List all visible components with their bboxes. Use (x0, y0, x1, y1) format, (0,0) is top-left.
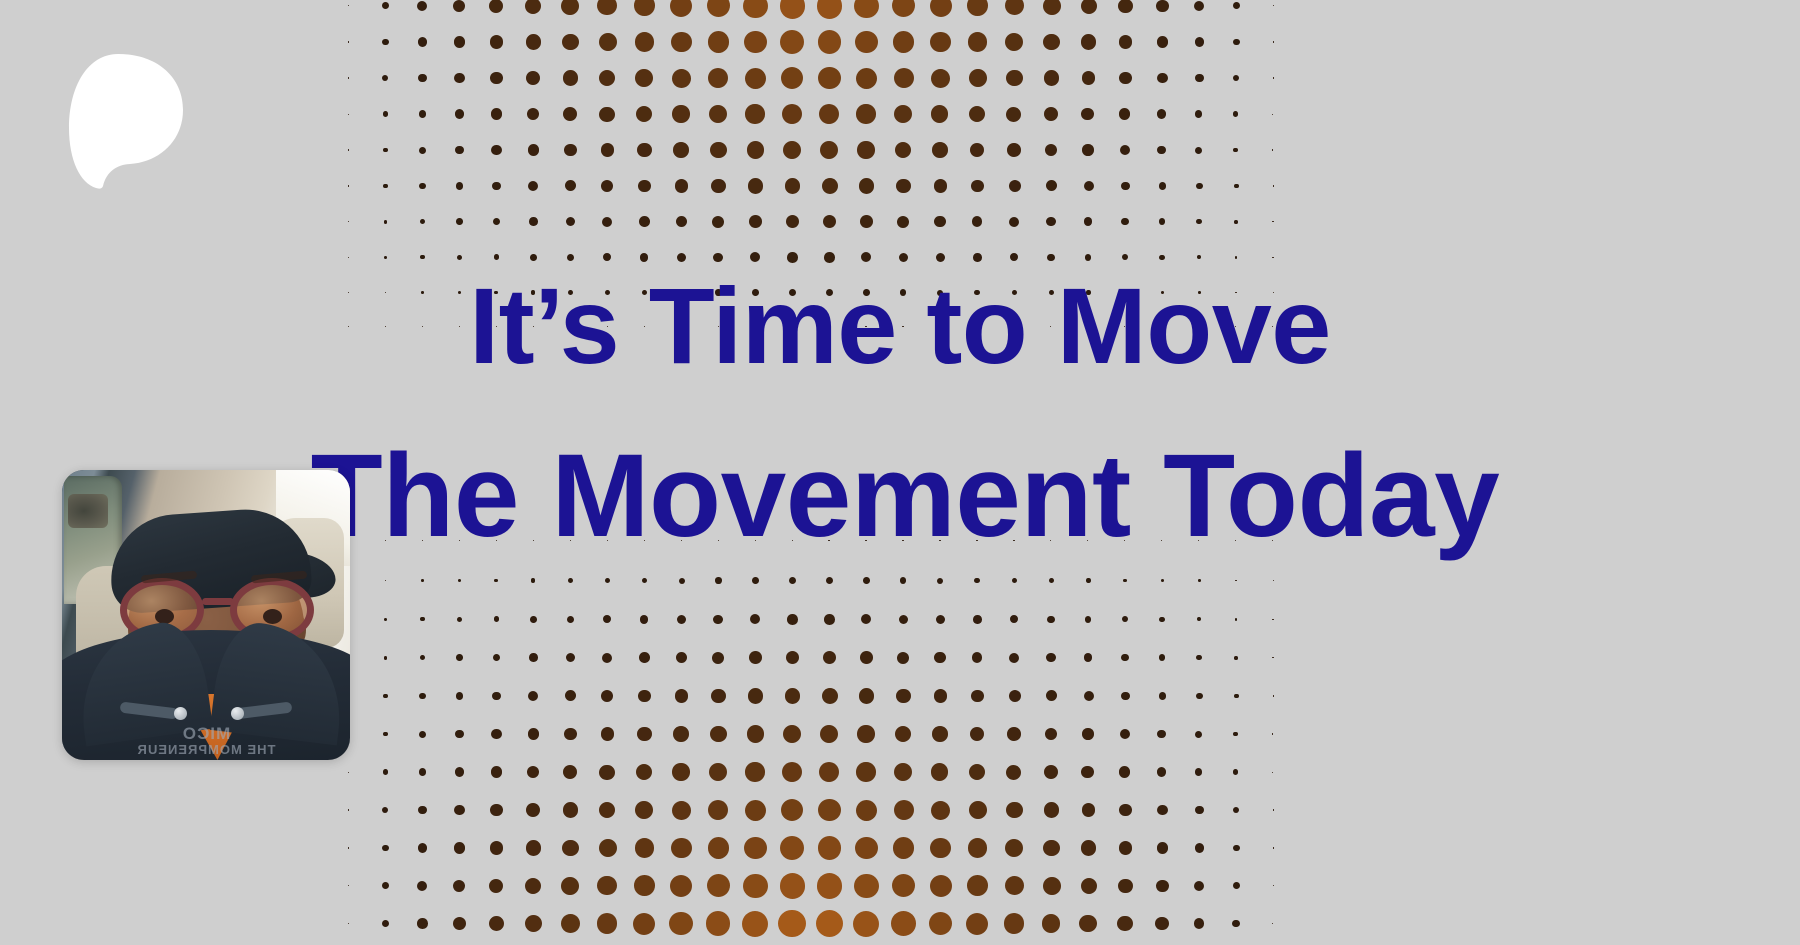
hoodie-brand-text: MICO (62, 724, 350, 743)
halftone-row (330, 141, 1280, 178)
halftone-row (330, 762, 1280, 799)
halftone-row (330, 725, 1280, 762)
halftone-row (330, 104, 1280, 141)
halftone-row (330, 836, 1280, 873)
halftone-row (330, 577, 1280, 614)
drawstring-aglet-right (231, 707, 244, 720)
halftone-row (330, 0, 1280, 30)
halftone-row (330, 799, 1280, 836)
headline-line-1: It’s Time to Move (0, 268, 1800, 385)
hoodie-tagline-text: THE MOMPRENEUR (62, 743, 350, 758)
halftone-row (330, 873, 1280, 910)
presenter-webcam-thumbnail[interactable]: MICO THE MOMPRENEUR (62, 470, 350, 760)
pupil-right (263, 609, 282, 624)
halftone-row (330, 178, 1280, 215)
webcam-scene: MICO THE MOMPRENEUR (62, 470, 350, 760)
halftone-dot-gradient-top (330, 0, 1280, 302)
halftone-row (330, 651, 1280, 688)
halftone-row (330, 30, 1280, 67)
halftone-dot-gradient-bottom (330, 540, 1280, 945)
halftone-row (330, 614, 1280, 651)
halftone-row (330, 688, 1280, 725)
slide-canvas: It’s Time to Move The Movement Today (0, 0, 1800, 945)
glasses-bridge (202, 598, 234, 605)
patreon-logo-icon (66, 52, 184, 190)
halftone-row (330, 910, 1280, 945)
halftone-row (330, 215, 1280, 252)
hoodie-graphic-text: MICO THE MOMPRENEUR (62, 724, 350, 758)
halftone-row (330, 67, 1280, 104)
drawstring-aglet-left (174, 707, 187, 720)
